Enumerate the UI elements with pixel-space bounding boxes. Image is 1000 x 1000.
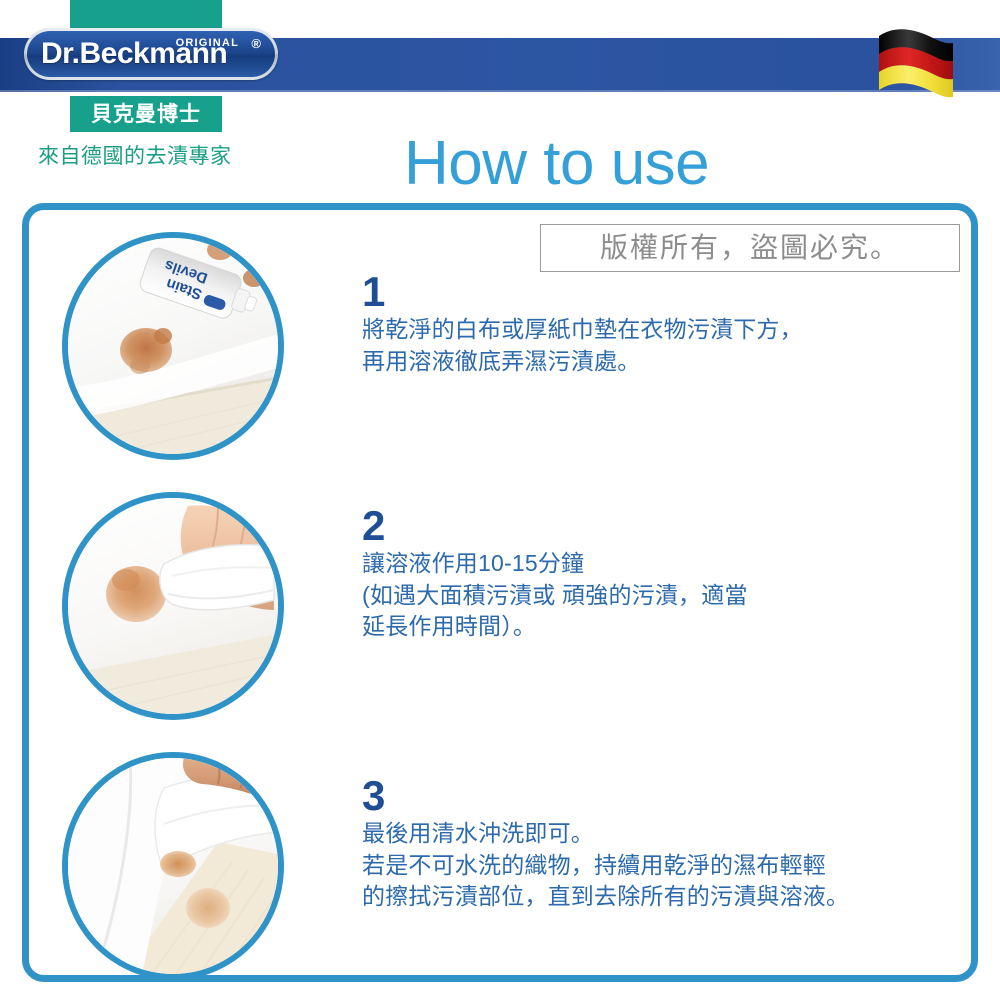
photo-apply-stain-remover: Stain Devils xyxy=(62,232,284,460)
logo-original-label: ORIGINAL xyxy=(176,38,239,49)
step-item-3: 3 最後用清水沖洗即可。 若是不可水洗的織物，持續用乾淨的濕布輕輕 的擦拭污漬部… xyxy=(22,742,978,992)
step-item-2: 2 讓溶液作用10-15分鐘 (如遇大面積污漬或 頑強的污漬，適當 延長作用時間… xyxy=(22,482,978,732)
step-body-2: 2 讓溶液作用10-15分鐘 (如遇大面積污漬或 頑強的污漬，適當 延長作用時間… xyxy=(362,506,972,643)
steps-list: Stain Devils 1 將乾淨的白布或厚紙巾墊在衣物污漬下方， 再用溶液徹… xyxy=(22,210,978,980)
step-text-1: 將乾淨的白布或厚紙巾墊在衣物污漬下方， 再用溶液徹底弄濕污漬處。 xyxy=(362,314,972,377)
copyright-watermark: 版權所有，盜圖必究。 xyxy=(540,224,960,272)
step-number-2: 2 xyxy=(362,506,972,546)
german-flag-icon xyxy=(855,18,975,108)
photo-blot-stain-with-cloth xyxy=(62,492,284,720)
copyright-watermark-text: 版權所有，盜圖必究。 xyxy=(600,234,900,262)
step-body-1: 1 將乾淨的白布或厚紙巾墊在衣物污漬下方， 再用溶液徹底弄濕污漬處。 xyxy=(362,272,972,377)
photo-lift-cloth-reveal-transfer xyxy=(62,752,284,980)
step-number-1: 1 xyxy=(362,272,972,312)
dr-beckmann-logo: Dr.Beckmann ORIGINAL ® xyxy=(24,28,278,80)
step-text-2: 讓溶液作用10-15分鐘 (如遇大面積污漬或 頑強的污漬，適當 延長作用時間）。 xyxy=(362,548,972,643)
brand-chinese-name: 貝克曼博士 xyxy=(91,104,201,125)
logo-pill-inner: Dr.Beckmann ORIGINAL ® xyxy=(27,31,275,77)
step-text-3: 最後用清水沖洗即可。 若是不可水洗的織物，持續用乾淨的濕布輕輕 的擦拭污漬部位，… xyxy=(362,818,972,913)
page-title: How to use xyxy=(404,133,709,195)
brand-tagline: 來自德國的去漬專家 xyxy=(38,146,232,167)
brand-chinese-name-box: 貝克曼博士 xyxy=(70,96,222,132)
step-number-3: 3 xyxy=(362,776,972,816)
step-body-3: 3 最後用清水沖洗即可。 若是不可水洗的織物，持續用乾淨的濕布輕輕 的擦拭污漬部… xyxy=(362,776,972,913)
registered-trademark-icon: ® xyxy=(251,37,261,50)
